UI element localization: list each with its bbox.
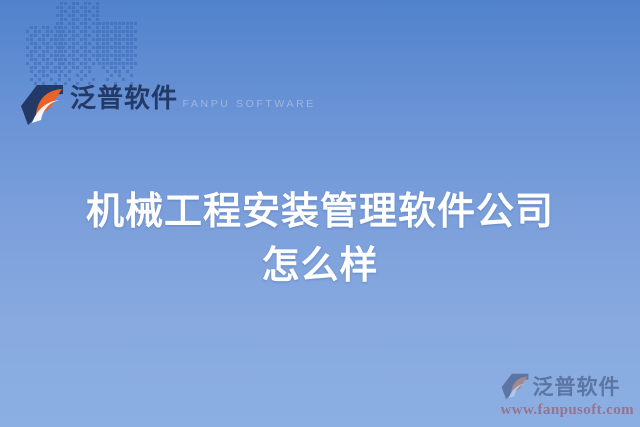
banner-headline: 机械工程安装管理软件公司 怎么样 — [0, 186, 640, 294]
pixel-skyline-graphic — [26, 0, 131, 86]
headline-line-1: 机械工程安装管理软件公司 — [0, 186, 640, 240]
skyline-building-center — [56, 2, 92, 86]
headline-line-2: 怎么样 — [0, 240, 640, 294]
watermark-url: www.fanpusoft.com — [501, 402, 634, 419]
watermark-logo: 泛普软件 — [501, 371, 634, 401]
brand-name-en: FANPU SOFTWARE — [182, 98, 315, 110]
promo-banner: 泛普软件 FANPU SOFTWARE 机械工程安装管理软件公司 怎么样 泛普软… — [0, 0, 640, 427]
fanpu-logo-mark-icon — [501, 373, 529, 400]
watermark-brand-name: 泛普软件 — [533, 371, 621, 401]
brand-logo-wordmark: 泛普软件 FANPU SOFTWARE — [70, 84, 316, 112]
skyline-building-left — [26, 26, 52, 86]
site-watermark: 泛普软件 www.fanpusoft.com — [501, 371, 634, 419]
brand-name-cn: 泛普软件 — [70, 83, 178, 113]
brand-logo: 泛普软件 FANPU SOFTWARE — [20, 84, 316, 126]
skyline-building-right — [98, 22, 131, 86]
fanpu-logo-mark-icon — [20, 84, 64, 126]
